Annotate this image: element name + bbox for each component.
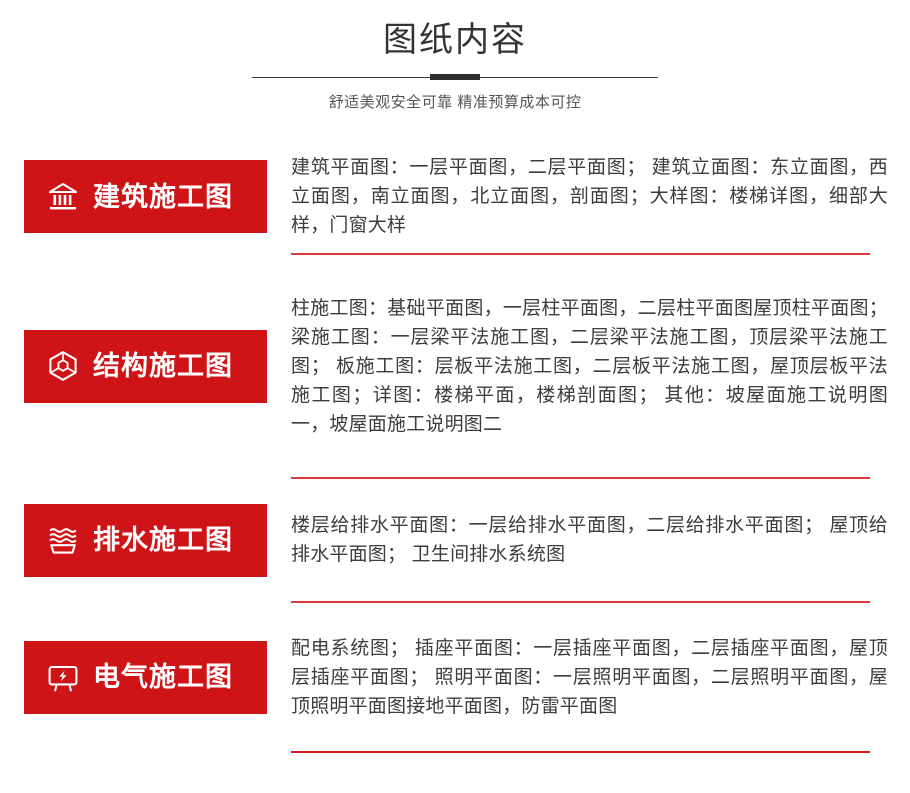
content-row-electrical: 电气施工图 配电系统图； 插座平面图：一层插座平面图，二层插座平面图，屋顶层插座… [24, 603, 890, 751]
content-column: 配电系统图； 插座平面图：一层插座平面图，二层插座平面图，屋顶层插座平面图； 照… [267, 634, 890, 721]
content-column: 建筑平面图：一层平面图，二层平面图； 建筑立面图：东立面图，西立面图，南立面图，… [267, 153, 890, 240]
badge-label: 建筑施工图 [93, 182, 233, 212]
row-description-text: 配电系统图； 插座平面图：一层插座平面图，二层插座平面图，屋顶层插座平面图； 照… [291, 634, 890, 721]
badge-column: 结构施工图 [24, 330, 267, 403]
page-subtitle: 舒适美观安全可靠 精准预算成本可控 [0, 92, 910, 114]
badge-structure[interactable]: 结构施工图 [24, 330, 267, 403]
page-header: 图纸内容 舒适美观安全可靠 精准预算成本可控 [0, 0, 910, 114]
content-column: 柱施工图：基础平面图，一层柱平面图，二层柱平面图屋顶柱平面图； 梁施工图：一层梁… [267, 294, 890, 439]
badge-column: 排水施工图 [24, 504, 267, 577]
badge-electrical[interactable]: 电气施工图 [24, 641, 267, 714]
content-row-architecture: 建筑施工图 建筑平面图：一层平面图，二层平面图； 建筑立面图：东立面图，西立面图… [24, 140, 890, 253]
badge-label: 排水施工图 [93, 525, 233, 555]
badge-label: 电气施工图 [93, 662, 233, 692]
badge-drainage[interactable]: 排水施工图 [24, 504, 267, 577]
page-title: 图纸内容 [0, 18, 910, 62]
cube-box-icon [46, 349, 80, 383]
classical-building-icon [46, 180, 80, 214]
row-description-text: 建筑平面图：一层平面图，二层平面图； 建筑立面图：东立面图，西立面图，南立面图，… [291, 153, 890, 240]
badge-column: 建筑施工图 [24, 160, 267, 233]
row-divider-4 [291, 751, 870, 753]
content-row-drainage: 排水施工图 楼层给排水平面图：一层给排水平面图，二层给排水平面图； 屋顶给排水平… [24, 479, 890, 601]
badge-label: 结构施工图 [93, 351, 233, 381]
row-description-text: 柱施工图：基础平面图，一层柱平面图，二层柱平面图屋顶柱平面图； 梁施工图：一层梁… [291, 294, 890, 439]
electric-transformer-icon [46, 660, 80, 694]
title-underline-rule [252, 73, 658, 83]
rule-thick-accent [430, 74, 480, 80]
row-description-text: 楼层给排水平面图：一层给排水平面图，二层给排水平面图； 屋顶给排水平面图； 卫生… [291, 511, 890, 569]
badge-column: 电气施工图 [24, 641, 267, 714]
content-row-structure: 结构施工图 柱施工图：基础平面图，一层柱平面图，二层柱平面图屋顶柱平面图； 梁施… [24, 255, 890, 477]
badge-architecture[interactable]: 建筑施工图 [24, 160, 267, 233]
content-rows: 建筑施工图 建筑平面图：一层平面图，二层平面图； 建筑立面图：东立面图，西立面图… [0, 140, 910, 753]
content-column: 楼层给排水平面图：一层给排水平面图，二层给排水平面图； 屋顶给排水平面图； 卫生… [267, 511, 890, 569]
water-waves-icon [46, 523, 80, 557]
